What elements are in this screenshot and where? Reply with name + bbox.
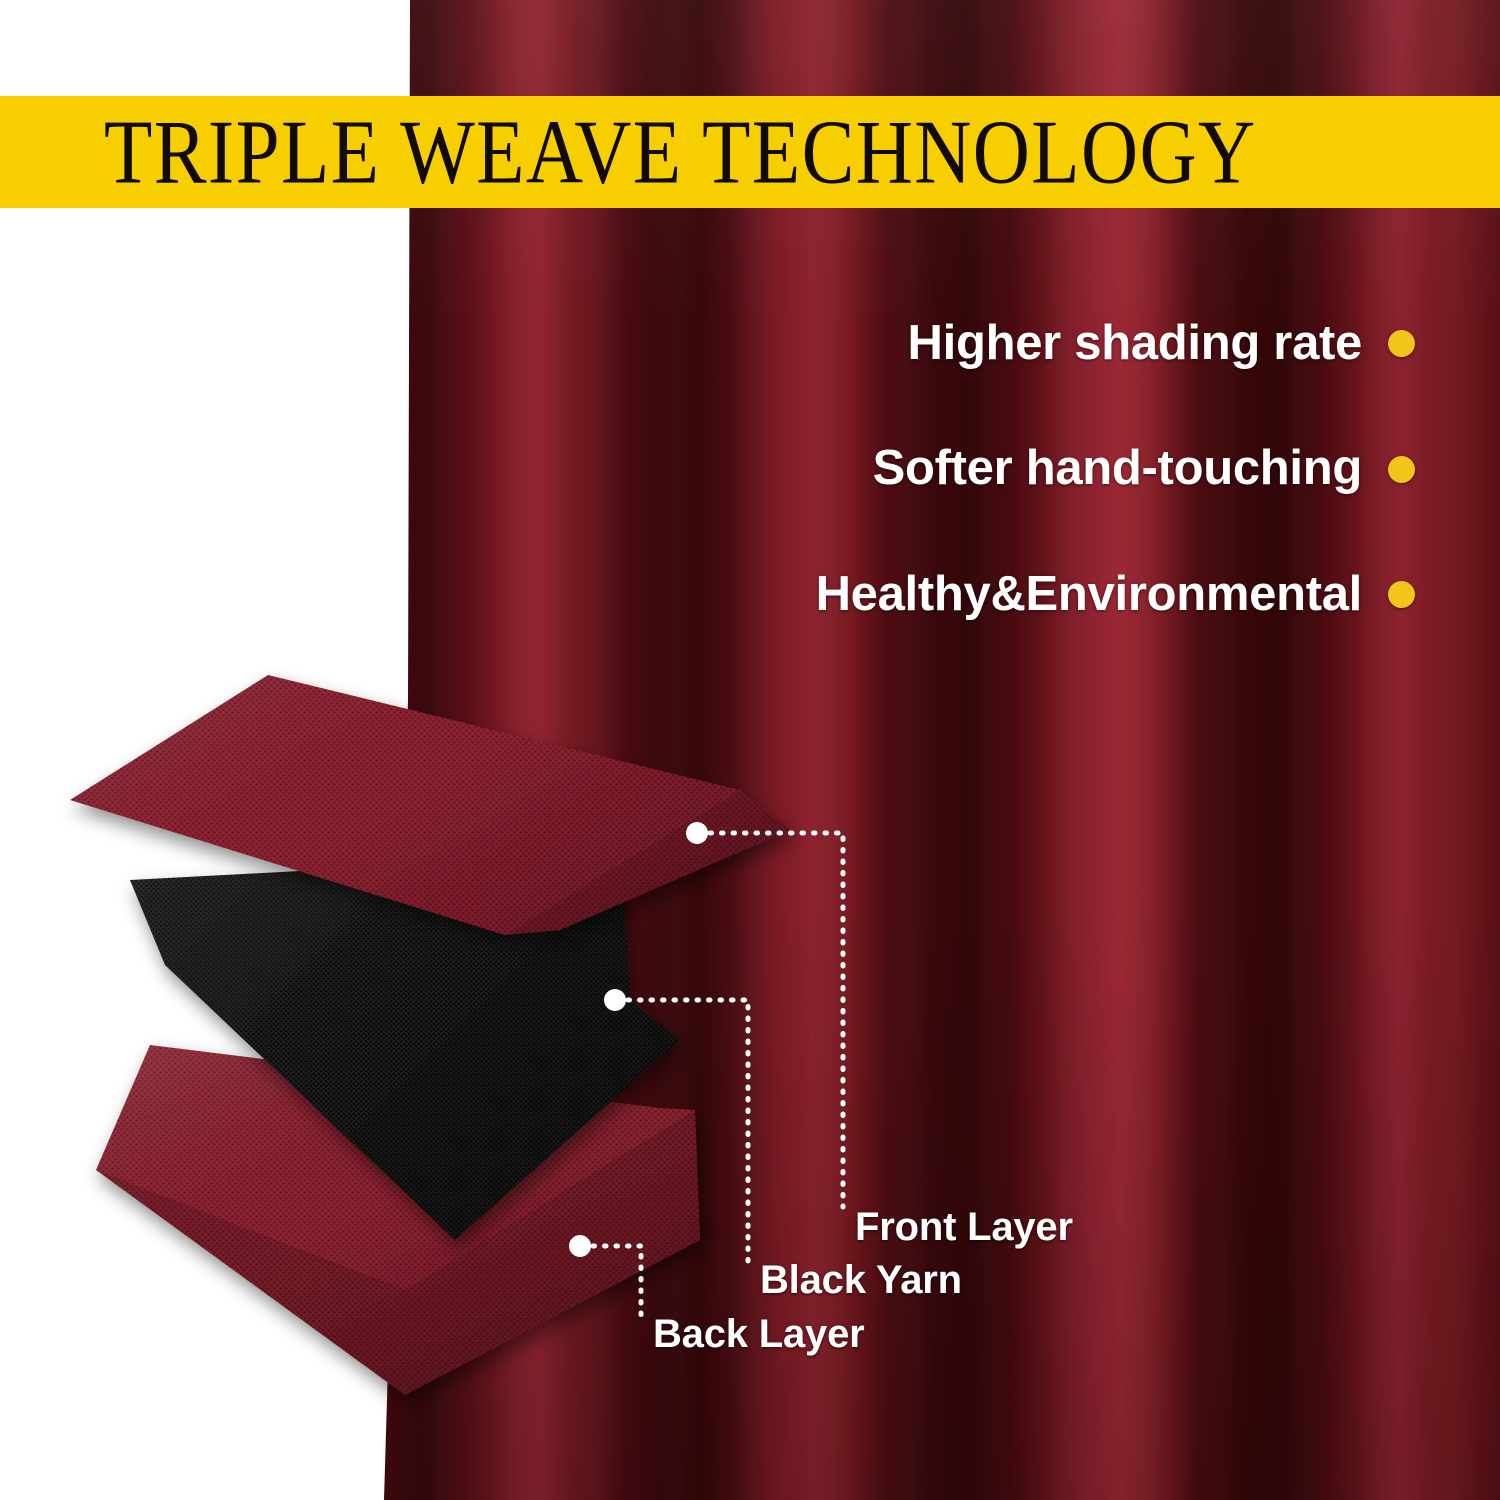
infographic-canvas: TRIPLE WEAVE TECHNOLOGY Higher shading r… bbox=[0, 0, 1500, 1500]
layer-label-yarn: Black Yarn bbox=[760, 1258, 962, 1303]
banner-title: TRIPLE WEAVE TECHNOLOGY bbox=[104, 106, 1257, 197]
layer-label-front: Front Layer bbox=[855, 1205, 1073, 1250]
layer-label-group: Front Layer Black Yarn Back Layer bbox=[0, 0, 1500, 1500]
layer-label-back: Back Layer bbox=[653, 1312, 864, 1357]
headline-banner: TRIPLE WEAVE TECHNOLOGY bbox=[0, 96, 1500, 208]
